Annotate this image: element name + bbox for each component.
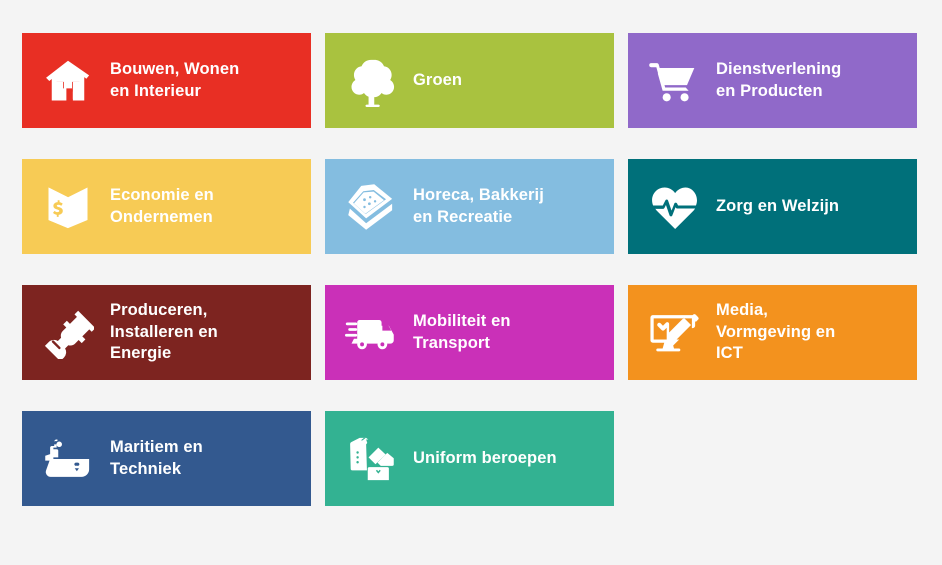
- sector-tile-label: Maritiem en Techniek: [110, 437, 203, 481]
- bread-slice-icon: [339, 175, 403, 239]
- delivery-van-icon: [339, 301, 403, 365]
- wallet-dollar-icon: [36, 175, 100, 239]
- sector-tile-media-vormgeving-en-ict[interactable]: Media, Vormgeving en ICT: [628, 285, 917, 380]
- uniform-clothing-icon: [339, 427, 403, 491]
- sector-tile-label: Horeca, Bakkerij en Recreatie: [413, 185, 544, 229]
- sector-tile-label: Mobiliteit en Transport: [413, 311, 511, 355]
- sector-tile-uniform-beroepen[interactable]: Uniform beroepen: [325, 411, 614, 506]
- monitor-pen-icon: [642, 301, 706, 365]
- sector-tile-mobiliteit-en-transport[interactable]: Mobiliteit en Transport: [325, 285, 614, 380]
- sector-tile-produceren-installeren-en-energie[interactable]: Produceren, Installeren en Energie: [22, 285, 311, 380]
- sector-tile-dienstverlening-en-producten[interactable]: Dienstverlening en Producten: [628, 33, 917, 128]
- power-plug-icon: [36, 301, 100, 365]
- sector-tile-label: Zorg en Welzijn: [716, 196, 839, 218]
- sector-tile-label: Bouwen, Wonen en Interieur: [110, 59, 239, 103]
- ship-icon: [36, 427, 100, 491]
- tree-icon: [339, 49, 403, 113]
- sector-tile-economie-en-ondernemen[interactable]: Economie en Ondernemen: [22, 159, 311, 254]
- sector-tile-bouwen-wonen-en-interieur[interactable]: Bouwen, Wonen en Interieur: [22, 33, 311, 128]
- sector-tile-maritiem-en-techniek[interactable]: Maritiem en Techniek: [22, 411, 311, 506]
- sector-tile-grid: Bouwen, Wonen en Interieur Groen Dienstv…: [22, 33, 918, 506]
- sector-tile-groen[interactable]: Groen: [325, 33, 614, 128]
- sector-tile-zorg-en-welzijn[interactable]: Zorg en Welzijn: [628, 159, 917, 254]
- sector-tile-label: Uniform beroepen: [413, 448, 557, 470]
- sector-tile-label: Groen: [413, 70, 462, 92]
- shopping-cart-icon: [642, 49, 706, 113]
- sector-tile-label: Media, Vormgeving en ICT: [716, 300, 835, 366]
- sector-tile-horeca-bakkerij-en-recreatie[interactable]: Horeca, Bakkerij en Recreatie: [325, 159, 614, 254]
- sector-tile-label: Dienstverlening en Producten: [716, 59, 841, 103]
- heart-pulse-icon: [642, 175, 706, 239]
- sector-tile-label: Economie en Ondernemen: [110, 185, 214, 229]
- house-icon: [36, 49, 100, 113]
- sector-tile-label: Produceren, Installeren en Energie: [110, 300, 218, 366]
